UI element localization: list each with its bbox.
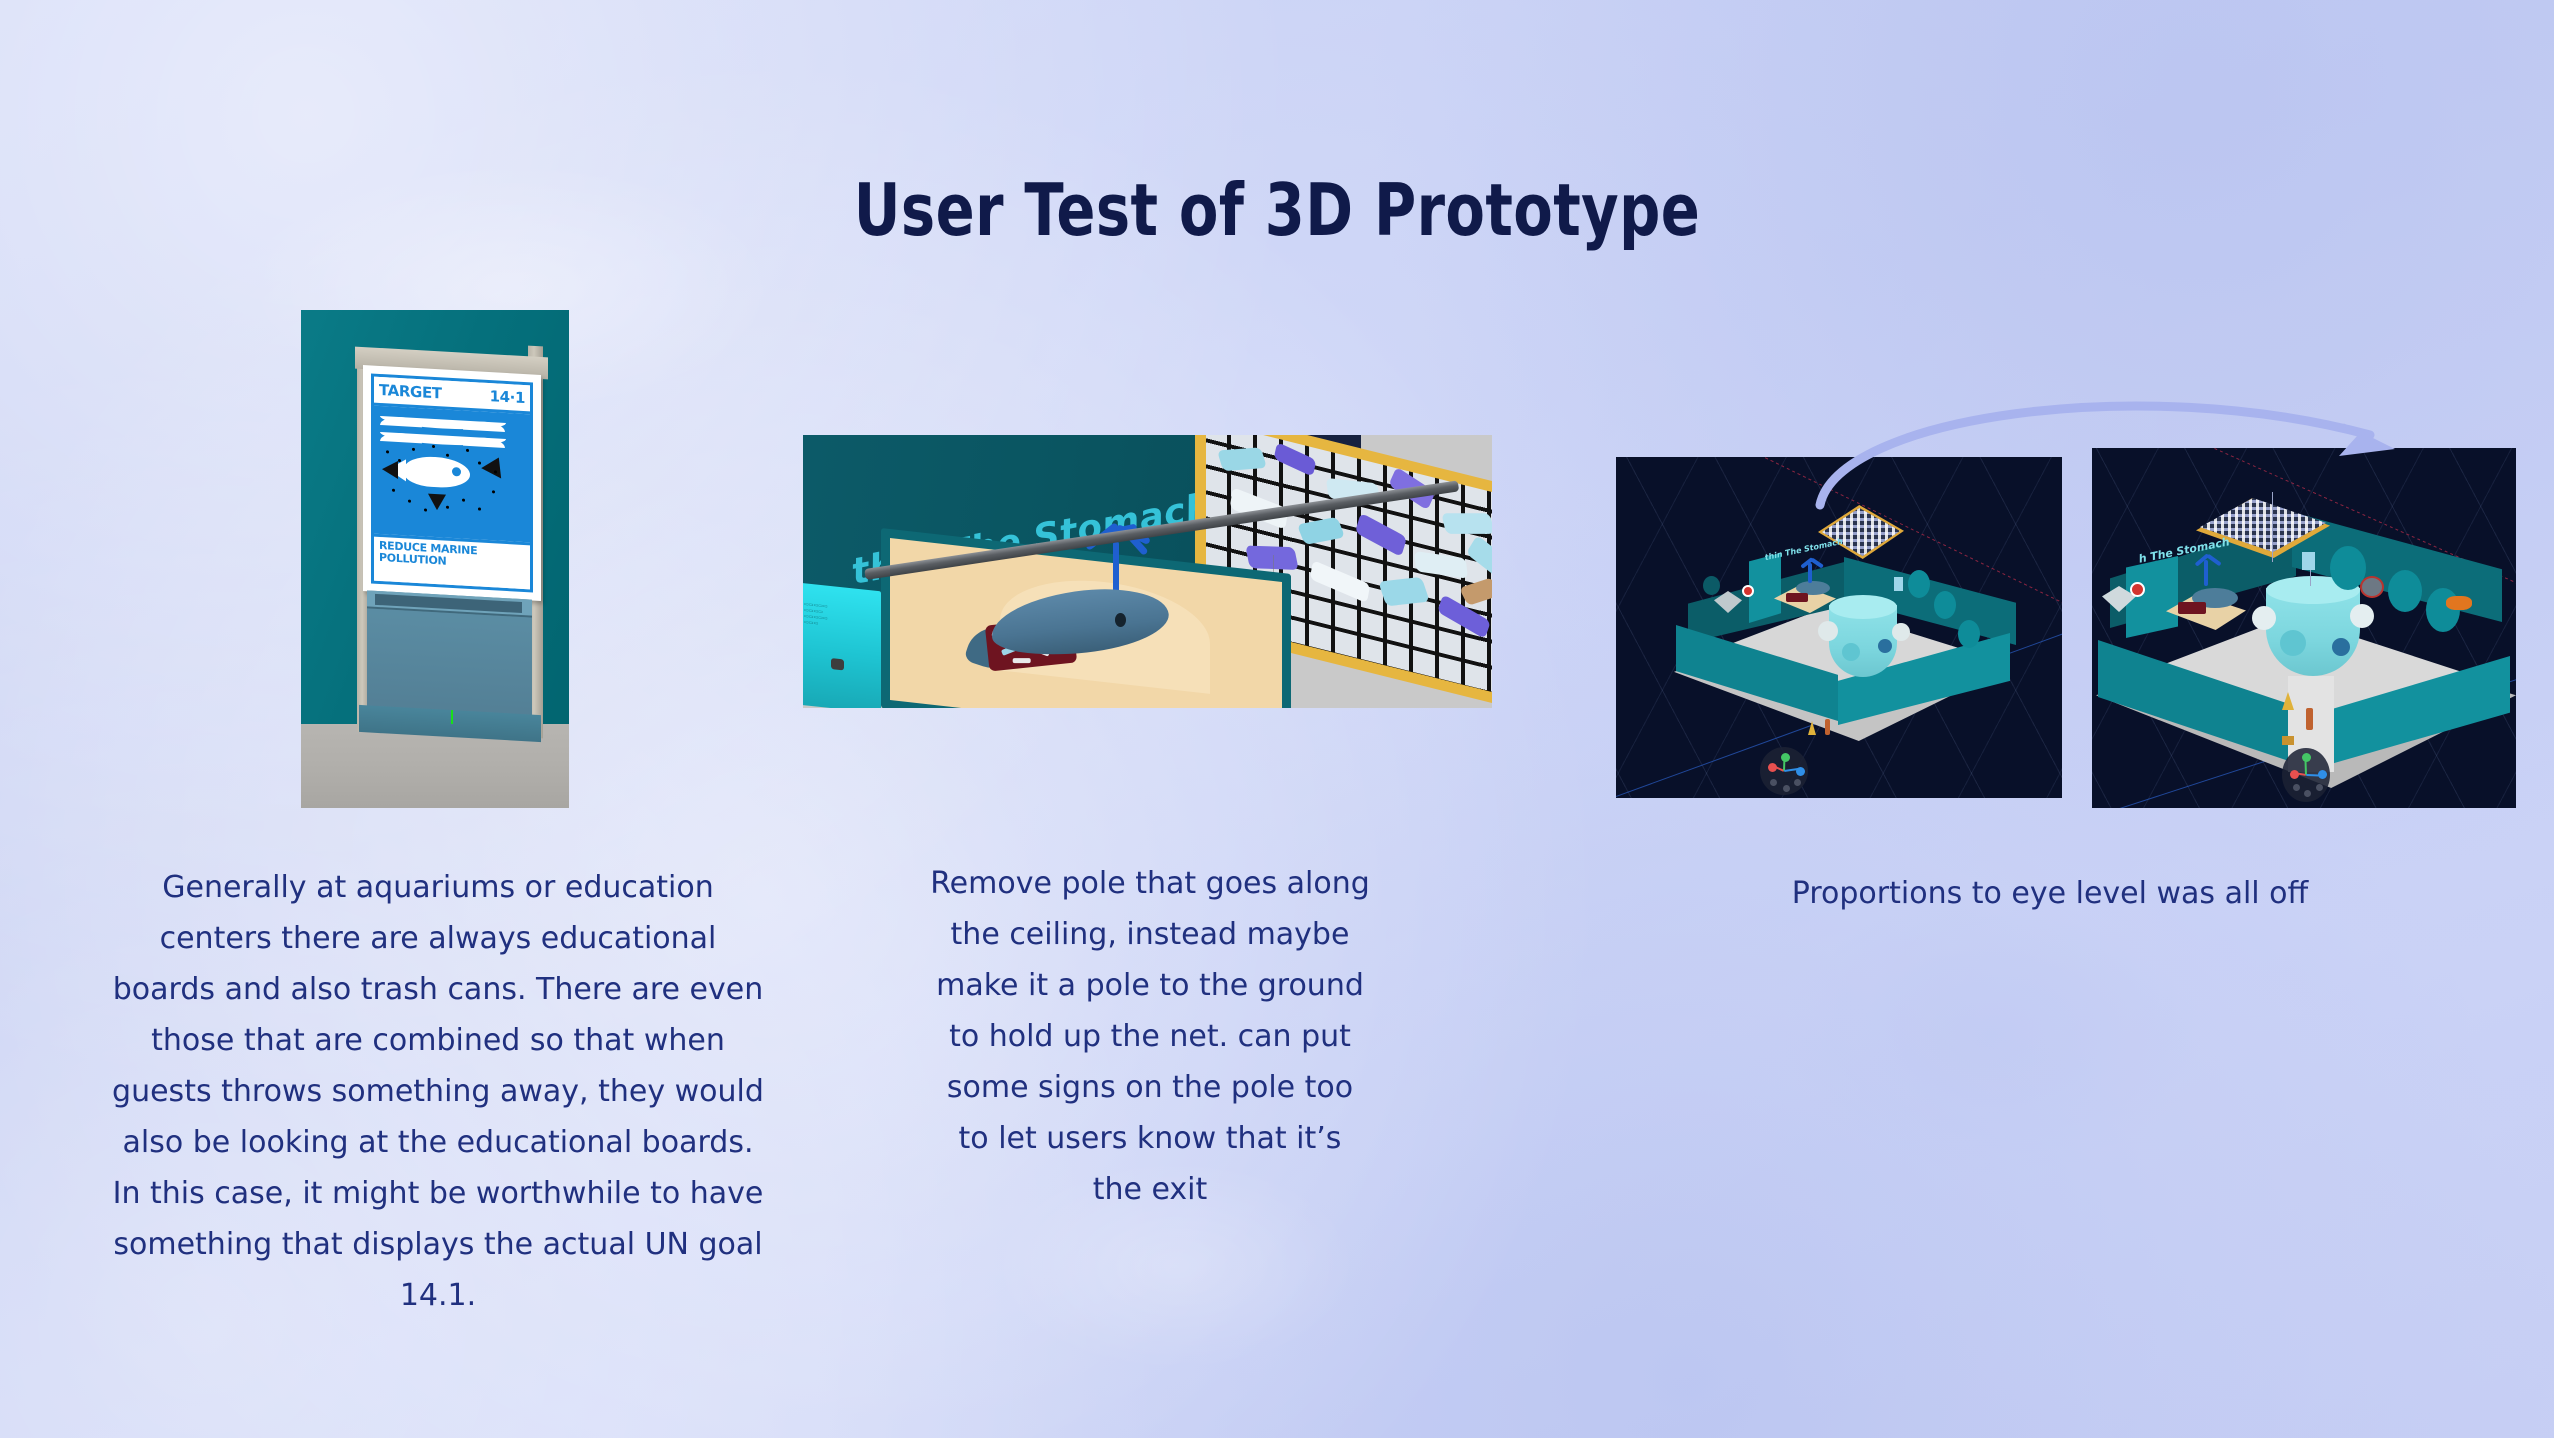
kiosk-caption: Generally at aquariums or education cent… <box>108 862 768 1321</box>
tank-porthole <box>2332 638 2350 656</box>
curved-arrow-annotation <box>1810 383 2450 513</box>
kiosk-trash-bin <box>367 590 532 719</box>
gizmo-axis-negz-dot[interactable] <box>2316 784 2323 791</box>
whale-eye <box>1115 613 1126 627</box>
wall-exhibit-oval <box>2388 570 2422 612</box>
kiosk-render-image: TARGET 14·1 <box>301 310 569 808</box>
central-tank-top <box>1829 595 1897 619</box>
gizmo-axis-negy-dot[interactable] <box>1783 785 1790 792</box>
gizmo-axis-x-dot[interactable] <box>2290 770 2299 779</box>
poster-dot <box>446 506 449 509</box>
gizmo-axis-x-dot[interactable] <box>1768 763 1777 772</box>
poster-dot <box>386 450 389 453</box>
poster-debris-3 <box>428 494 446 511</box>
poster-target-number: 14·1 <box>490 389 525 406</box>
exhibit-prop <box>2282 736 2294 745</box>
whale-stomach-small <box>1786 593 1808 602</box>
poster-caption: REDUCE MARINE POLLUTION <box>374 534 530 590</box>
tank-side-sphere <box>1818 621 1838 641</box>
tank-porthole <box>2280 630 2306 656</box>
placard-text-block: ▭▭▭▭▭▭▭▭▭▭▭▭▭▭▭▭▭ <box>804 601 846 629</box>
page-title: User Test of 3D Prototype <box>255 168 2298 252</box>
gizmo-axis-negx-dot[interactable] <box>1770 779 1777 786</box>
poster-dot <box>492 490 495 493</box>
poster-dot <box>478 461 481 464</box>
wall-exhibit-oval <box>1934 591 1956 619</box>
entry-ellipse-sign <box>1703 576 1720 595</box>
whale-spout-small <box>1808 563 1812 583</box>
wall-exhibit-oval <box>2426 588 2460 632</box>
poster-dot <box>398 459 401 462</box>
whale-stomach-small <box>2178 602 2206 614</box>
whale-stomach-render-image: thin The Stomach <box>803 435 1492 708</box>
poster-debris-1 <box>382 460 398 479</box>
gizmo-axis-negx-dot[interactable] <box>2293 784 2300 791</box>
poster-debris-2 <box>481 452 509 478</box>
wall-artifact-ring <box>2360 576 2384 598</box>
wall-artifact-coral <box>2446 596 2472 610</box>
poster-artwork <box>374 406 530 543</box>
poster-target-label: TARGET <box>379 382 442 401</box>
stomach-sign-panel <box>1749 553 1781 623</box>
poster-dot <box>392 489 395 492</box>
wall-exhibit-oval <box>1908 570 1930 598</box>
poster-fish-eye <box>452 467 461 477</box>
no-littering-icon <box>1742 585 1754 597</box>
tank-side-sphere <box>2350 604 2374 628</box>
poster-dot <box>446 454 449 457</box>
poster-dot <box>412 448 415 451</box>
info-placard: ▭▭▭▭▭▭▭▭▭▭▭▭▭▭▭▭▭ <box>803 583 881 708</box>
poster-dot <box>478 507 481 510</box>
tank-porthole <box>1842 643 1860 661</box>
whale-caption: Remove pole that goes along the ceiling,… <box>930 858 1370 1215</box>
viewport-navigation-gizmo[interactable] <box>2282 748 2330 802</box>
wall-exhibit-oval <box>1958 620 1980 648</box>
gizmo-axis-negy-dot[interactable] <box>2304 790 2311 797</box>
un-goal-poster: TARGET 14·1 <box>371 373 533 592</box>
gizmo-axis-y-dot[interactable] <box>1781 753 1790 762</box>
visitor-figure <box>1825 719 1830 735</box>
wall-info-screen <box>2302 552 2315 570</box>
tank-side-sphere <box>2252 606 2276 630</box>
viewport-navigation-gizmo[interactable] <box>1760 747 1808 795</box>
poster-wave-1 <box>380 416 506 432</box>
poster-dot <box>466 449 469 452</box>
wall-info-screen <box>1894 577 1903 591</box>
placard-knob <box>831 658 844 670</box>
poster-dot <box>408 500 411 503</box>
origin-axis-marker <box>451 710 453 724</box>
curved-arrow-shaft <box>1820 406 2370 505</box>
poster-dot <box>462 499 465 502</box>
poster-dot <box>424 508 427 511</box>
viewports-caption: Proportions to eye level was all off <box>1700 873 2400 915</box>
poster-dot <box>494 470 497 473</box>
gizmo-axis-negz-dot[interactable] <box>1794 779 1801 786</box>
visitor-figure <box>2306 708 2313 730</box>
poster-dot <box>432 445 435 448</box>
tank-porthole <box>1878 639 1892 653</box>
no-littering-icon <box>2130 582 2145 597</box>
gizmo-axis-z-dot[interactable] <box>2318 770 2327 779</box>
gizmo-axis-y-dot[interactable] <box>2302 753 2311 762</box>
stomach-trash <box>1013 658 1031 663</box>
kiosk-sign-board: TARGET 14·1 <box>363 365 541 601</box>
gizmo-axis-z-dot[interactable] <box>1796 767 1805 776</box>
whale-spout-small <box>2204 560 2208 586</box>
poster-wave-2 <box>380 432 506 448</box>
tank-side-sphere <box>1892 623 1910 641</box>
